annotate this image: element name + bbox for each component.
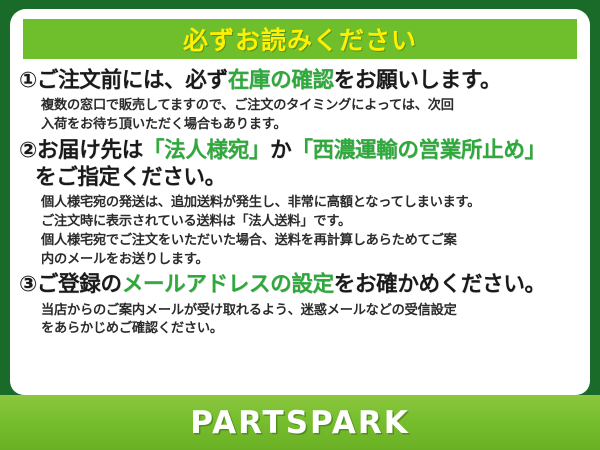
item-2-heading-pre: お届け先は [37, 138, 143, 163]
partspark-logo: PARTSPARK [190, 405, 410, 441]
notice-item-2-body: 個人様宅宛の発送は、追加送料が発生し、非常に高額となってしまいます。 ご注文時に… [19, 194, 581, 269]
notice-item-3: ③ご登録のメールアドレスの設定をお確かめください。 当店からのご案内メールが受け… [19, 271, 581, 339]
item-3-body-line-1: 当店からのご案内メールが受け取れるよう、迷惑メールなどの受信設定 [41, 302, 581, 321]
notice-item-2-heading: ②お届け先は「法人様宛」か「西濃運輸の営業所止め」 [19, 137, 581, 164]
item-2-body-line-1: 個人様宅宛の発送は、追加送料が発生し、非常に高額となってしまいます。 [41, 194, 581, 213]
item-2-body-line-2: ご注文時に表示されている送料は「法人送料」です。 [41, 213, 581, 232]
notice-item-list: ①ご注文前には、必ず在庫の確認をお願いします。 複数の窓口で販売してますので、ご… [10, 67, 590, 341]
banner-title: 必ずお読みください [183, 21, 417, 57]
item-1-body-line-2: 入荷をお待ち頂いただく場合もあります。 [41, 116, 581, 135]
item-1-heading-post: をお願いします。 [334, 68, 501, 93]
notice-banner: 必ずお読みください [23, 19, 577, 59]
notice-item-1: ①ご注文前には、必ず在庫の確認をお願いします。 複数の窓口で販売してますので、ご… [19, 67, 581, 135]
notice-item-1-body: 複数の窓口で販売してますので、ご注文のタイミングによっては、次回 入荷をお待ち頂… [19, 97, 581, 134]
item-2-heading-highlight: 「法人様宛」 [143, 138, 270, 163]
item-1-body-line-1: 複数の窓口で販売してますので、ご注文のタイミングによっては、次回 [41, 97, 581, 116]
item-3-body-line-2: をあらかじめご確認ください。 [41, 320, 581, 339]
notice-item-3-heading: ③ご登録のメールアドレスの設定をお確かめください。 [19, 271, 581, 298]
item-2-heading-highlight-2: 「西濃運輸の営業所止め」 [291, 138, 545, 163]
item-2-body-line-4: 内のメールをお送りします。 [41, 251, 581, 270]
item-3-heading-pre: ご登録の [37, 272, 122, 297]
notice-item-2-heading-line-2: をご指定ください。 [19, 164, 581, 191]
item-2-marker: ② [19, 138, 37, 163]
notice-item-3-body: 当店からのご案内メールが受け取れるよう、迷惑メールなどの受信設定 をあらかじめご… [19, 302, 581, 339]
item-1-heading-highlight: 在庫の確認 [228, 68, 334, 93]
item-3-heading-highlight: メールアドレスの設定 [122, 272, 334, 297]
notice-item-2: ②お届け先は「法人様宛」か「西濃運輸の営業所止め」 をご指定ください。 個人様宅… [19, 137, 581, 270]
item-1-heading-pre: ご注文前には、必ず [37, 68, 228, 93]
notice-item-1-heading: ①ご注文前には、必ず在庫の確認をお願いします。 [19, 67, 581, 94]
item-3-heading-post: をお確かめください。 [334, 272, 546, 297]
notice-card: 必ずお読みください ①ご注文前には、必ず在庫の確認をお願いします。 複数の窓口で… [0, 0, 600, 450]
content-panel: 必ずお読みください ①ご注文前には、必ず在庫の確認をお願いします。 複数の窓口で… [10, 9, 590, 395]
item-3-marker: ③ [19, 272, 37, 297]
item-2-heading-mid: か [270, 138, 291, 163]
item-2-body-line-3: 個人様宅宛でご注文をいただいた場合、送料を再計算しあらためてご案 [41, 232, 581, 251]
footer-bar: PARTSPARK [0, 395, 600, 450]
item-1-marker: ① [19, 68, 37, 93]
